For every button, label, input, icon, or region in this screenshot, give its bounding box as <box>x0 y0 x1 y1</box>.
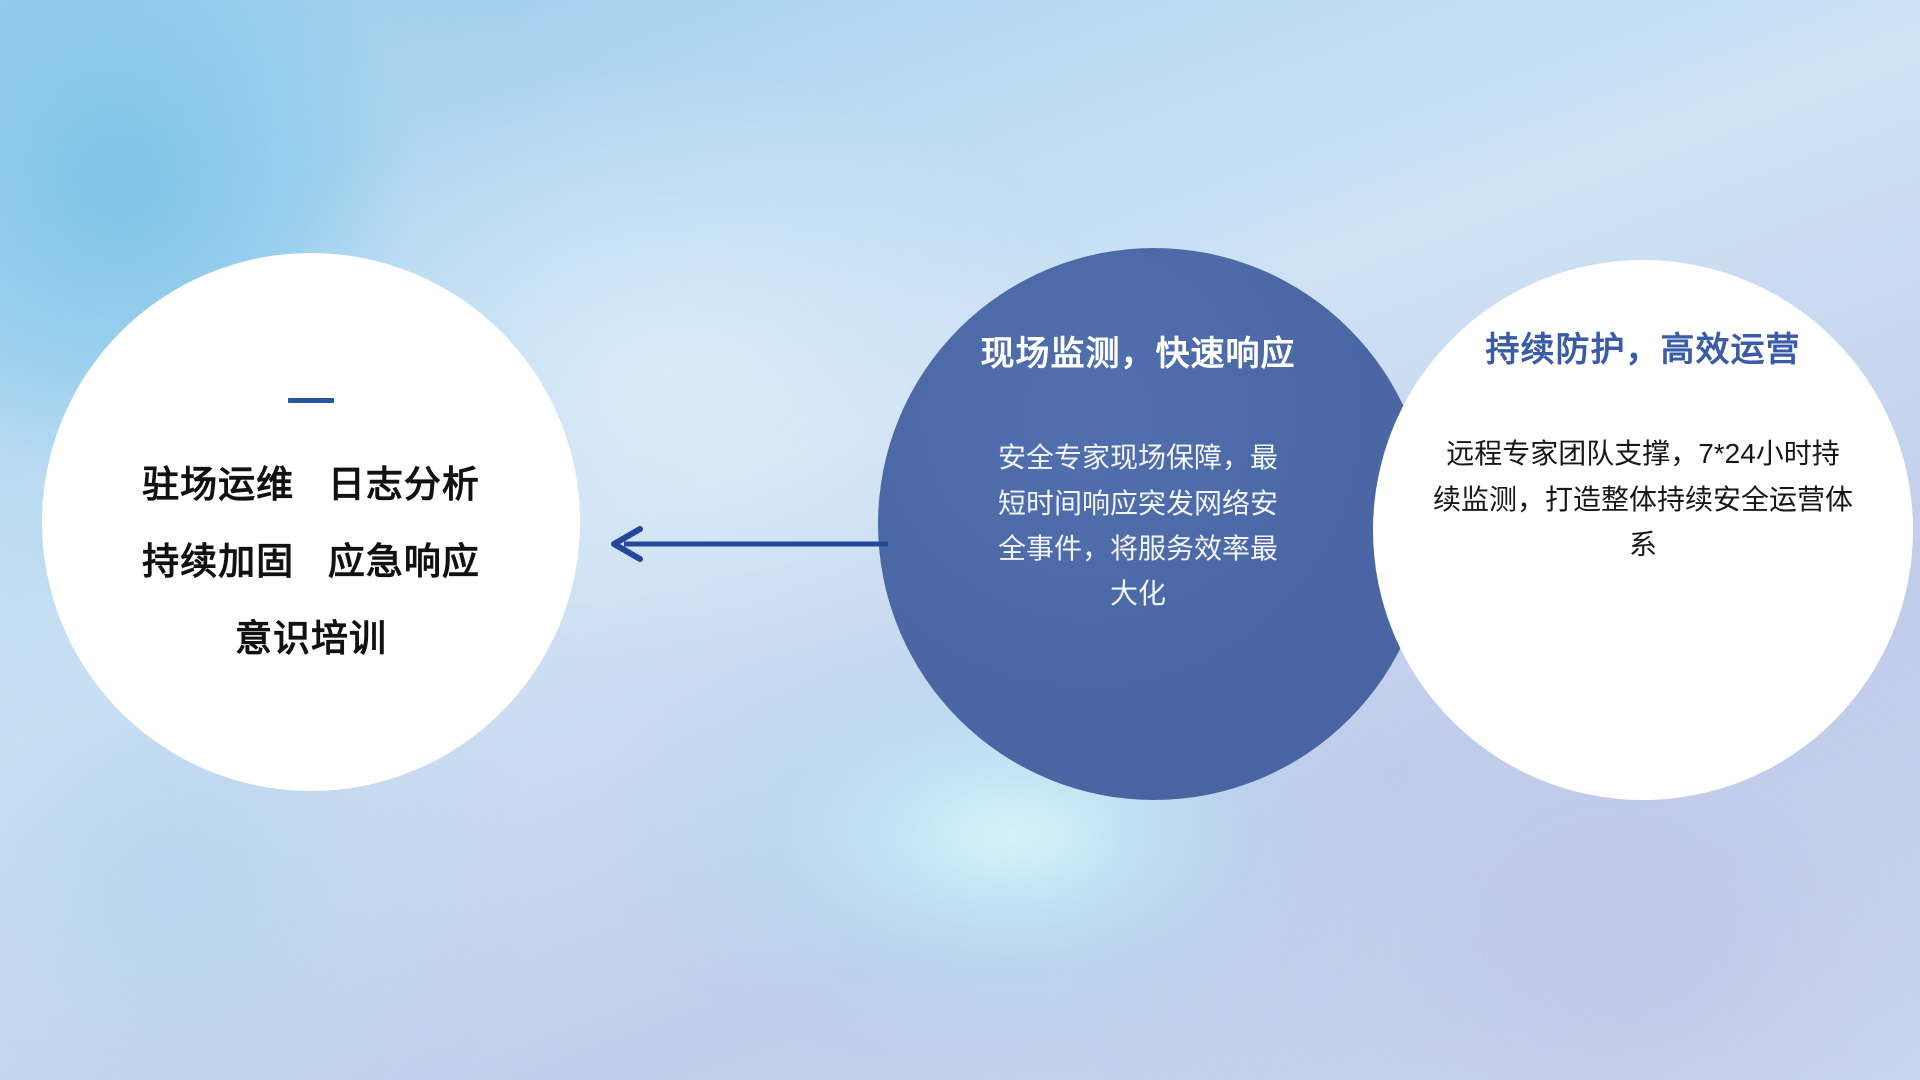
right-circle-title: 持续防护，高效运营 <box>1486 332 1801 369</box>
middle-circle-content: 现场监测，快速响应 安全专家现场保障，最短时间响应突发网络安全事件，将服务效率最… <box>878 248 1430 800</box>
left-circle-content: 驻场运维 日志分析 持续加固 应急响应 意识培训 <box>42 253 580 791</box>
middle-circle-title: 现场监测，快速响应 <box>981 336 1296 373</box>
left-keyword-line-1: 驻场运维 日志分析 <box>142 466 480 503</box>
title-divider-dash <box>288 398 334 403</box>
right-circle-body: 远程专家团队支撑，7*24小时持续监测，打造整体持续安全运营体系 <box>1433 431 1853 567</box>
middle-circle-body: 安全专家现场保障，最短时间响应突发网络安全事件，将服务效率最大化 <box>988 435 1288 616</box>
arrow-left-icon <box>600 520 890 568</box>
right-circle-content: 持续防护，高效运营 远程专家团队支撑，7*24小时持续监测，打造整体持续安全运营… <box>1373 260 1913 800</box>
slide-canvas: 驻场运维 日志分析 持续加固 应急响应 意识培训 现场监测，快速响应 安全专家现… <box>0 0 1920 1080</box>
left-keyword-line-3: 意识培训 <box>235 620 387 657</box>
left-keyword-line-2: 持续加固 应急响应 <box>142 543 480 580</box>
